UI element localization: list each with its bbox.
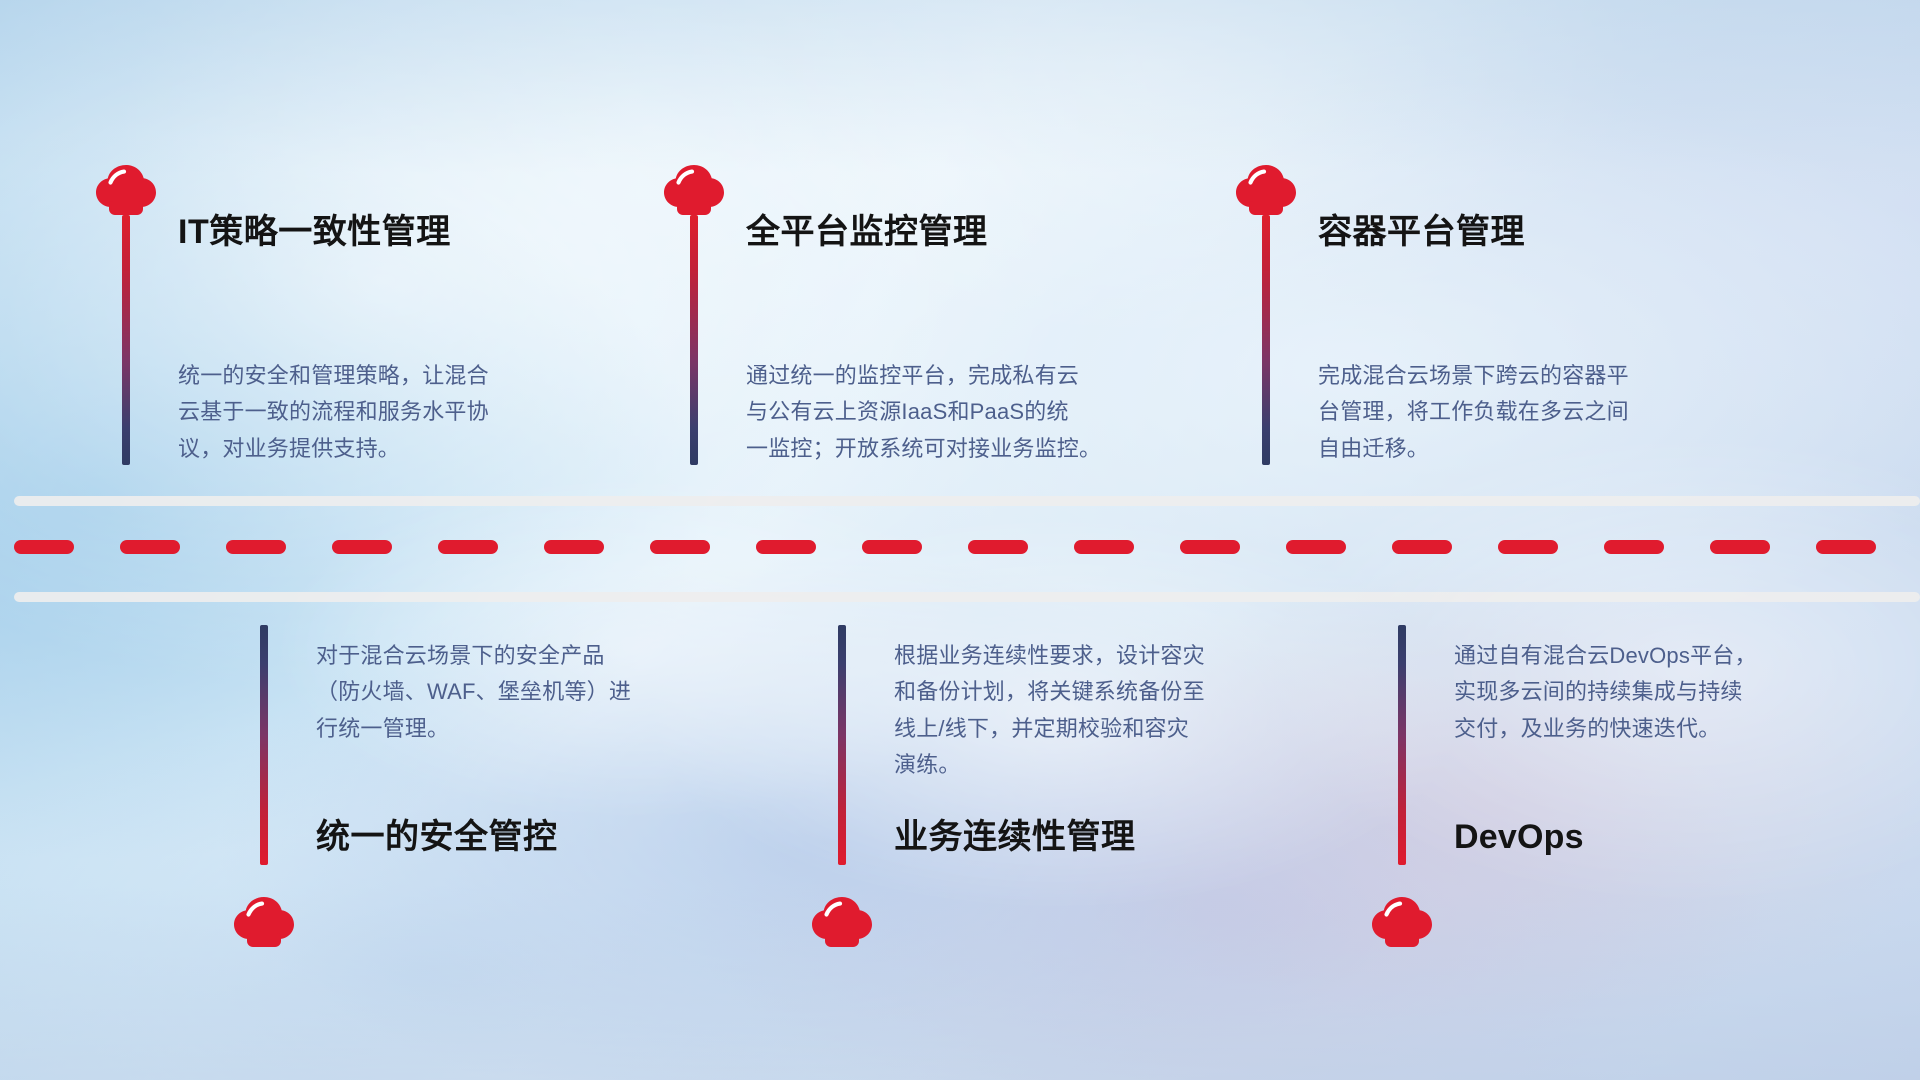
cloud-icon (233, 895, 295, 949)
divider-dash (1604, 540, 1664, 554)
item-description: 完成混合云场景下跨云的容器平台管理，将工作负载在多云之间自由迁移。 (1318, 358, 1738, 467)
divider-dash (226, 540, 286, 554)
item-description-line: （防火墙、WAF、堡垒机等）进 (316, 674, 736, 710)
item-title: DevOps (1454, 820, 1584, 854)
connector-stem (690, 215, 698, 465)
item-description-line: 线上/线下，并定期校验和容灾 (894, 711, 1314, 747)
divider-dash (1392, 540, 1452, 554)
item-description-line: 云基于一致的流程和服务水平协 (178, 394, 598, 430)
connector-stem (260, 625, 268, 865)
divider-dash (968, 540, 1028, 554)
item-description-line: 实现多云间的持续集成与持续 (1454, 674, 1874, 710)
cloud-icon (1371, 895, 1433, 949)
divider-dash (14, 540, 74, 554)
item-description-line: 议，对业务提供支持。 (178, 431, 598, 467)
divider-dash (1180, 540, 1240, 554)
item-description-line: 对于混合云场景下的安全产品 (316, 638, 736, 674)
divider-dash (1816, 540, 1876, 554)
item-title: 统一的安全管控 (316, 820, 558, 854)
item-description: 通过自有混合云DevOps平台，实现多云间的持续集成与持续交付，及业务的快速迭代… (1454, 638, 1874, 747)
divider-dash (1498, 540, 1558, 554)
item-title: 容器平台管理 (1318, 215, 1525, 249)
item-description-line: 一监控；开放系统可对接业务监控。 (746, 431, 1166, 467)
item-description: 统一的安全和管理策略，让混合云基于一致的流程和服务水平协议，对业务提供支持。 (178, 358, 598, 467)
infographic-canvas: IT策略一致性管理统一的安全和管理策略，让混合云基于一致的流程和服务水平协议，对… (0, 0, 1920, 1080)
cloud-icon (663, 163, 725, 217)
divider-dash (120, 540, 180, 554)
item-title: 全平台监控管理 (746, 215, 988, 249)
divider-dash (544, 540, 604, 554)
item-description-line: 行统一管理。 (316, 711, 736, 747)
item-description-line: 交付，及业务的快速迭代。 (1454, 711, 1874, 747)
item-description: 根据业务连续性要求，设计容灾和备份计划，将关键系统备份至线上/线下，并定期校验和… (894, 638, 1314, 783)
item-description-line: 完成混合云场景下跨云的容器平 (1318, 358, 1738, 394)
item-description-line: 演练。 (894, 747, 1314, 783)
cloud-icon (811, 895, 873, 949)
item-description: 通过统一的监控平台，完成私有云与公有云上资源IaaS和PaaS的统一监控；开放系… (746, 358, 1166, 467)
item-description: 对于混合云场景下的安全产品（防火墙、WAF、堡垒机等）进行统一管理。 (316, 638, 736, 747)
divider-dash (650, 540, 710, 554)
connector-stem (1398, 625, 1406, 865)
divider-dash (438, 540, 498, 554)
item-title: IT策略一致性管理 (178, 215, 451, 249)
divider-dash (1286, 540, 1346, 554)
connector-stem (122, 215, 130, 465)
item-description-line: 自由迁移。 (1318, 431, 1738, 467)
item-description-line: 根据业务连续性要求，设计容灾 (894, 638, 1314, 674)
item-description-line: 统一的安全和管理策略，让混合 (178, 358, 598, 394)
cloud-icon (95, 163, 157, 217)
item-title: 业务连续性管理 (894, 820, 1136, 854)
connector-stem (1262, 215, 1270, 465)
divider-band-bottom (14, 592, 1920, 602)
divider-dash (332, 540, 392, 554)
item-description-line: 台管理，将工作负载在多云之间 (1318, 394, 1738, 430)
divider-dash (1710, 540, 1770, 554)
item-description-line: 通过统一的监控平台，完成私有云 (746, 358, 1166, 394)
item-description-line: 与公有云上资源IaaS和PaaS的统 (746, 394, 1166, 430)
divider-dash (862, 540, 922, 554)
item-description-line: 通过自有混合云DevOps平台， (1454, 638, 1874, 674)
item-description-line: 和备份计划，将关键系统备份至 (894, 674, 1314, 710)
cloud-icon (1235, 163, 1297, 217)
connector-stem (838, 625, 846, 865)
divider-band-top (14, 496, 1920, 506)
divider-dash (1074, 540, 1134, 554)
divider-dash (756, 540, 816, 554)
